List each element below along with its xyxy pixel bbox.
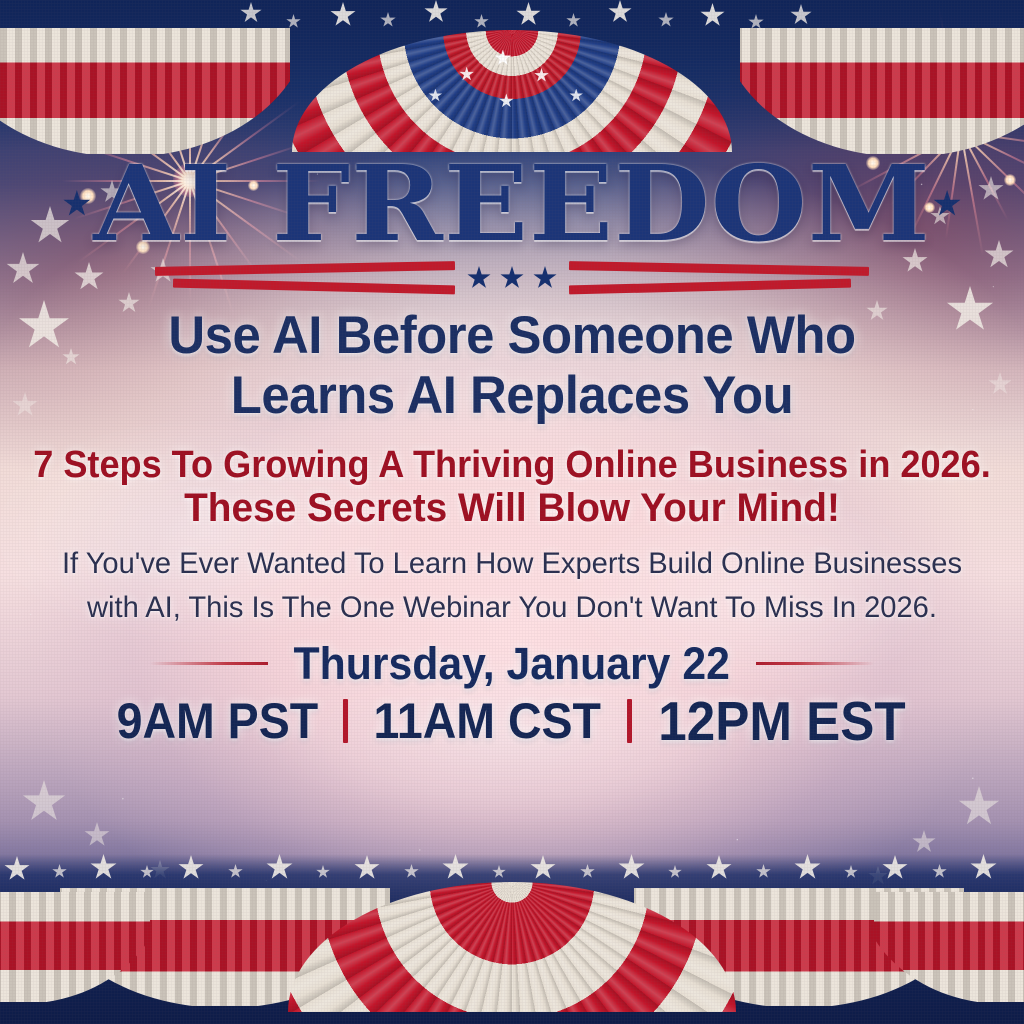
divider-bars-right: [569, 258, 869, 298]
page-title: AI FREEDOM: [93, 152, 931, 256]
stars-and-stripes-divider: [0, 258, 1024, 298]
bottom-star-row: [0, 852, 1024, 892]
time-pst: 9AM PST: [117, 696, 319, 746]
date-row: Thursday, January 22: [0, 637, 1024, 689]
time-separator-2: [627, 699, 632, 743]
time-est: 12PM EST: [658, 694, 905, 749]
title-row: AI FREEDOM: [0, 152, 1024, 256]
webinar-times-row: 9AM PST 11AM CST 12PM EST: [0, 690, 1024, 752]
webinar-date: Thursday, January 22: [294, 641, 730, 686]
star-icon-left: [63, 190, 91, 218]
subheadline-line-2: Learns AI Replaces You: [20, 366, 1003, 426]
star-icon: [500, 266, 524, 290]
red-headline-line-1: 7 Steps To Growing A Thriving Online Bus…: [26, 443, 999, 489]
red-headline-line-2: These Secrets Will Blow Your Mind!: [15, 484, 1008, 532]
subheadline-line-1: Use AI Before Someone Who: [20, 306, 1003, 366]
subheadline: Use AI Before Someone Who Learns AI Repl…: [20, 306, 1003, 427]
date-rule-right: [756, 662, 874, 665]
date-rule-left: [150, 662, 268, 665]
body-copy-line-2: with AI, This Is The One Webinar You Don…: [15, 585, 1008, 630]
star-icon: [467, 266, 491, 290]
time-cst: 11AM CST: [374, 696, 601, 746]
divider-stars: [455, 266, 569, 290]
star-icon-right: [933, 190, 961, 218]
patriotic-webinar-poster: AI FREEDOM Use AI Before Someone Who Lea…: [0, 0, 1024, 1024]
divider-bars-left: [155, 258, 455, 298]
body-copy-line-1: If You've Ever Wanted To Learn How Exper…: [15, 541, 1008, 586]
star-icon: [533, 266, 557, 290]
time-separator-1: [343, 699, 348, 743]
